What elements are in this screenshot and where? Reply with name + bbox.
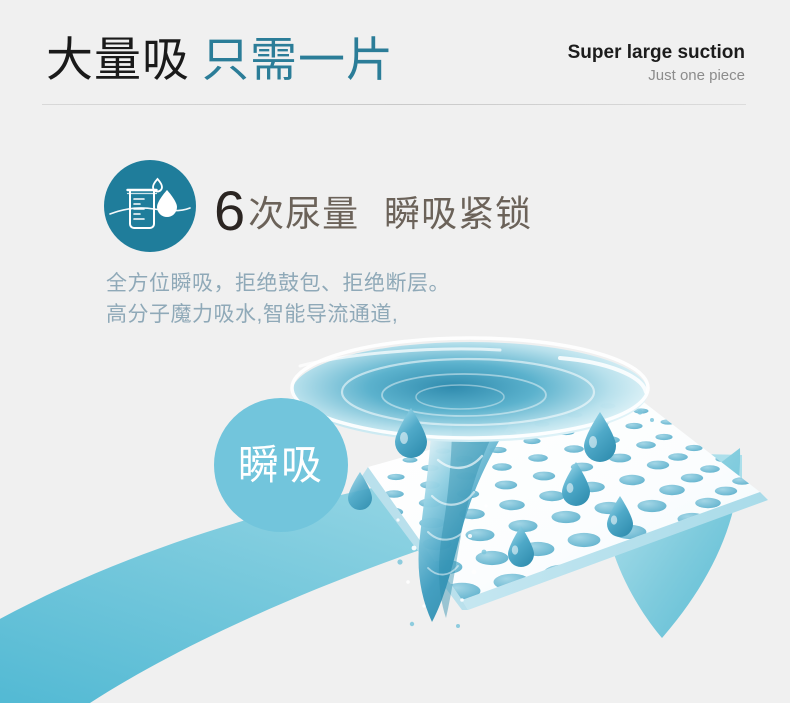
english-title-group: Super large suction Just one piece	[568, 41, 745, 87]
instant-absorb-badge: 瞬吸	[214, 398, 348, 532]
feature-number: 6	[214, 179, 245, 242]
feature-description-line-1: 全方位瞬吸，拒绝鼓包、拒绝断层。	[106, 268, 450, 299]
header-divider	[42, 104, 746, 105]
feature-benefit-label: 瞬吸紧锁	[384, 193, 532, 234]
feature-unit-label: 次尿量	[248, 193, 359, 234]
product-feature-banner: 大量吸只需一片 Super large suction Just one pie…	[0, 0, 790, 703]
english-title: Super large suction	[568, 41, 745, 65]
english-subtitle: Just one piece	[568, 65, 745, 87]
product-illustration	[0, 300, 790, 703]
instant-absorb-badge-label: 瞬吸	[238, 443, 324, 487]
header: 大量吸只需一片 Super large suction Just one pie…	[0, 0, 790, 112]
beaker-with-droplets-icon	[104, 160, 196, 252]
feature-headline: 6次尿量瞬吸紧锁	[214, 181, 532, 244]
page-title-accent: 只需一片	[202, 33, 394, 86]
page-title-primary: 大量吸	[46, 33, 190, 86]
page-title: 大量吸只需一片	[46, 32, 394, 88]
